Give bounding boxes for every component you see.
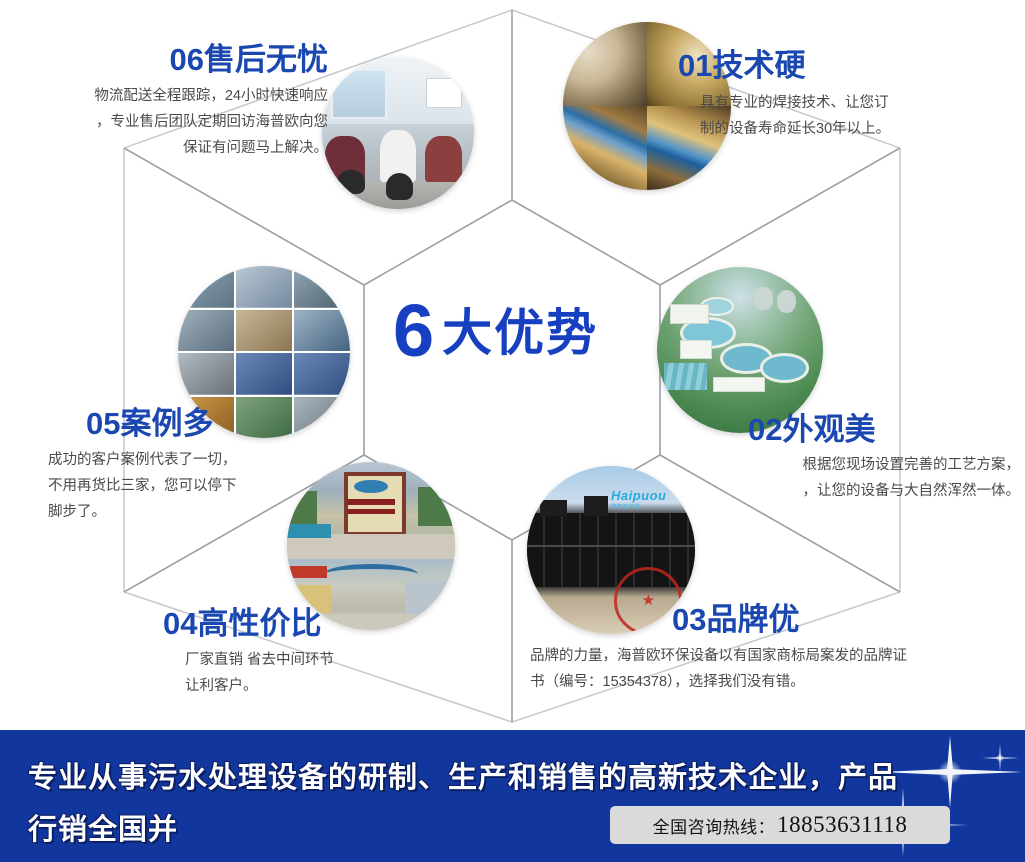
- advantage-05-desc: 成功的客户案例代表了一切， 不用再货比三家，您可以停下 脚步了。: [48, 447, 348, 525]
- haipuou-watermark: Haipuou 海普欧环保: [611, 488, 667, 510]
- hotline-label: 全国咨询热线：: [653, 813, 776, 838]
- advantage-block-01: 01技术硬 具有专业的焊接技术、让您订 制的设备寿命延长30年以上。: [678, 50, 1008, 142]
- advantage-05-desc-line-1: 成功的客户案例代表了一切，: [48, 447, 348, 473]
- advantage-03-desc: 品牌的力量，海普欧环保设备以有国家商标局案发的品牌证 书（编号：15354378…: [530, 643, 1010, 695]
- advantage-block-03: 03品牌优 品牌的力量，海普欧环保设备以有国家商标局案发的品牌证 书（编号：15…: [530, 604, 1010, 695]
- infographic-root: Haipuou 海普欧环保 ★: [0, 0, 1025, 862]
- advantage-05-heading: 05案例多: [86, 408, 348, 439]
- photo-02-treatment-plant: [657, 267, 823, 433]
- advantage-05-desc-line-2: 不用再货比三家，您可以停下: [48, 473, 348, 499]
- advantage-03-desc-line-1: 品牌的力量，海普欧环保设备以有国家商标局案发的品牌证: [530, 643, 1010, 669]
- advantage-01-heading: 01技术硬: [678, 50, 1008, 81]
- hotline-box[interactable]: 全国咨询热线：18853631118: [610, 806, 950, 844]
- advantage-05-desc-line-3: 脚步了。: [48, 499, 348, 525]
- haipuou-watermark-sub: 海普欧环保: [611, 503, 667, 510]
- advantage-04-desc-line-1: 厂家直销 省去中间环节: [185, 647, 503, 673]
- hotline-number: 18853631118: [777, 812, 907, 838]
- advantage-03-heading: 03品牌优: [672, 604, 1010, 635]
- advantage-02-desc: 根据您现场设置完善的工艺方案， ，让您的设备与大自然浑然一体。: [700, 452, 1020, 504]
- advantage-06-desc-line-3: 保证有问题马上解决。: [18, 135, 328, 161]
- advantage-04-heading: 04高性价比: [163, 608, 503, 639]
- weld-cell-3: [563, 106, 647, 190]
- case-cell-8: [236, 353, 292, 395]
- advantage-06-heading: 06售后无忧: [18, 44, 328, 75]
- advantage-block-05: 05案例多 成功的客户案例代表了一切， 不用再货比三家，您可以停下 脚步了。: [48, 408, 348, 525]
- case-cell-4: [178, 310, 234, 352]
- case-cell-7: [178, 353, 234, 395]
- advantage-06-desc: 物流配送全程跟踪，24小时快速响应 ，专业售后团队定期回访海普欧向您 保证有问题…: [18, 83, 328, 161]
- case-cell-6: [294, 310, 350, 352]
- advantage-block-04: 04高性价比 厂家直销 省去中间环节 让利客户。: [163, 608, 503, 699]
- advantage-02-desc-line-1: 根据您现场设置完善的工艺方案，: [700, 452, 1020, 478]
- photo-06-office-staff: [322, 57, 474, 209]
- center-logo: 6大优势: [393, 294, 598, 368]
- advantage-02-heading: 02外观美: [748, 414, 1020, 445]
- case-cell-5: [236, 310, 292, 352]
- banner-line-2: 远销欧美，山东省重点扶持的环保设备企业。: [28, 856, 908, 862]
- advantage-01-desc-line-1: 具有专业的焊接技术、让您订: [700, 90, 1008, 116]
- advantage-03-desc-line-2: 书（编号：15354378），选择我们没有错。: [530, 669, 1010, 695]
- center-label: 大优势: [442, 305, 598, 361]
- case-cell-3: [294, 266, 350, 308]
- advantage-06-desc-line-2: ，专业售后团队定期回访海普欧向您: [18, 109, 328, 135]
- advantage-01-desc: 具有专业的焊接技术、让您订 制的设备寿命延长30年以上。: [700, 90, 1008, 142]
- advantage-04-desc-line-2: 让利客户。: [185, 673, 503, 699]
- case-cell-9: [294, 353, 350, 395]
- advantage-02-desc-line-2: ，让您的设备与大自然浑然一体。: [700, 478, 1020, 504]
- advantage-block-02: 02外观美 根据您现场设置完善的工艺方案， ，让您的设备与大自然浑然一体。: [700, 414, 1020, 504]
- weld-cell-1: [563, 22, 647, 106]
- case-cell-1: [178, 266, 234, 308]
- case-cell-2: [236, 266, 292, 308]
- center-number: 6: [393, 289, 434, 372]
- advantage-04-desc: 厂家直销 省去中间环节 让利客户。: [185, 647, 503, 699]
- advantage-01-desc-line-2: 制的设备寿命延长30年以上。: [700, 116, 1008, 142]
- advantage-block-06: 06售后无忧 物流配送全程跟踪，24小时快速响应 ，专业售后团队定期回访海普欧向…: [18, 44, 328, 161]
- advantage-06-desc-line-1: 物流配送全程跟踪，24小时快速响应: [18, 83, 328, 109]
